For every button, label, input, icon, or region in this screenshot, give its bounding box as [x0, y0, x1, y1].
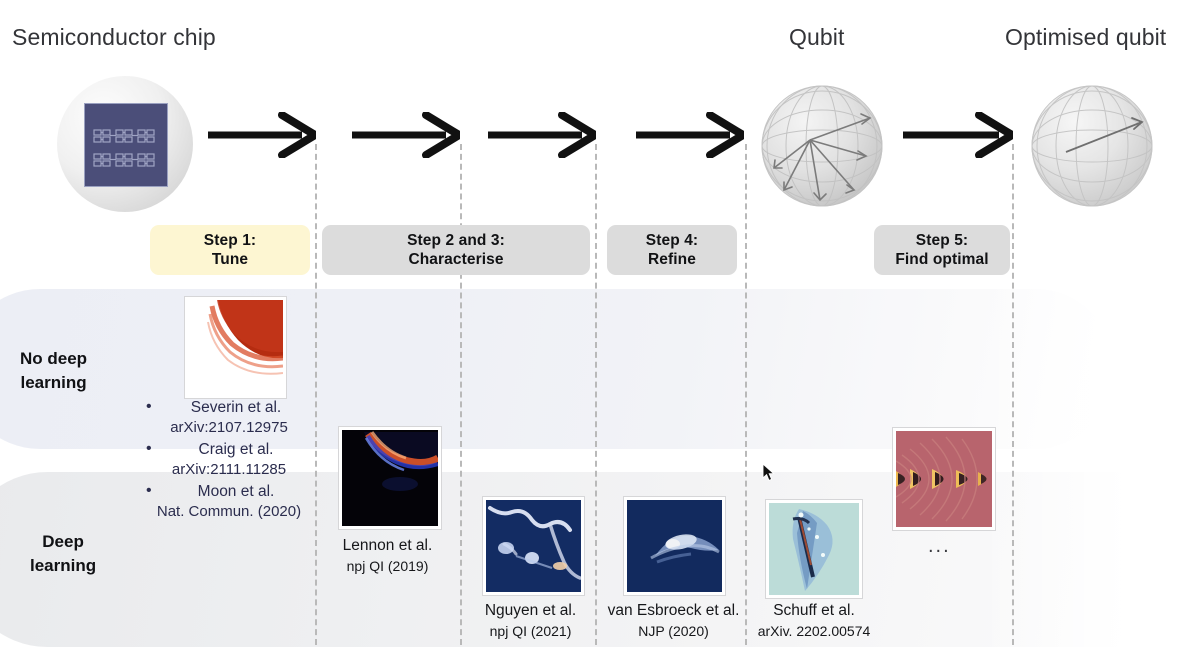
- workflow-diagram: Semiconductor chip Qubit Optimised qubit: [0, 0, 1200, 645]
- semiconductor-chip-image: [57, 76, 193, 212]
- citation-severin-reference: arXiv:2107.12975: [140, 418, 318, 438]
- step-2-3-pill[interactable]: Step 2 and 3:Characterise: [322, 225, 590, 275]
- caption-van-esbroeck: van Esbroeck et al. NJP (2020): [596, 600, 751, 642]
- optimised-qubit-bloch-sphere: [1018, 72, 1166, 220]
- thumb-lennon: [339, 427, 441, 529]
- citation-moon-title: Moon et al.: [140, 482, 318, 502]
- thumb-optimal: [893, 428, 995, 530]
- citation-craig-reference: arXiv:2111.11285: [140, 460, 318, 480]
- arrow-1-icon: [208, 112, 316, 158]
- caption-line1: Lennon et al.: [330, 535, 445, 556]
- thumb-image-rose-caustic: [896, 431, 992, 527]
- label-qubit: Qubit: [789, 24, 844, 51]
- citation-moon-reference: Nat. Commun. (2020): [140, 502, 318, 522]
- thumb-image-teal-wedge: [769, 503, 859, 595]
- row-label-deep-learning: Deep learning: [30, 530, 96, 578]
- row-label-line1: No deep: [20, 347, 87, 371]
- step-5-line2: Find optimal: [895, 250, 988, 269]
- caption-line1: van Esbroeck et al.: [596, 600, 751, 621]
- caption-line2: arXiv. 2202.00574: [744, 621, 884, 642]
- step-1-pill[interactable]: Step 1:Tune: [150, 225, 310, 275]
- mouse-cursor: [762, 463, 775, 487]
- caption-line1: Schuff et al.: [744, 600, 884, 621]
- column-divider-2: [460, 144, 462, 645]
- caption-line2: npj QI (2019): [330, 556, 445, 577]
- thumb-image-white-red-stability: [188, 300, 283, 395]
- step-1-line1: Step 1:: [204, 231, 256, 250]
- thumb-image-dark-plasma: [342, 430, 438, 526]
- caption-line2: npj QI (2021): [468, 621, 593, 642]
- citation-moon: Moon et al.Nat. Commun. (2020): [140, 482, 318, 522]
- step-4-line1: Step 4:: [646, 231, 698, 250]
- caption-line1: Nguyen et al.: [468, 600, 593, 621]
- step-2-3-line1: Step 2 and 3:: [407, 231, 505, 250]
- caption-lennon: Lennon et al. npj QI (2019): [330, 535, 445, 577]
- row-label-line1: Deep: [30, 530, 96, 554]
- caption-nguyen: Nguyen et al. npj QI (2021): [468, 600, 593, 642]
- arrow-5-icon: [903, 112, 1013, 158]
- thumb-van-esbroeck: [624, 497, 725, 595]
- thumb-image-navy-blob: [627, 500, 722, 592]
- column-divider-3: [595, 144, 597, 645]
- thumb-image-navy-filament: [486, 500, 581, 592]
- arrow-2-icon: [352, 112, 460, 158]
- qubit-bloch-sphere: [748, 72, 896, 220]
- more-results-ellipsis: ...: [928, 535, 951, 558]
- citation-severin-title: Severin et al.: [140, 398, 318, 418]
- citation-craig-title: Craig et al.: [140, 440, 318, 460]
- label-semiconductor-chip: Semiconductor chip: [12, 24, 216, 51]
- arrow-3-icon: [488, 112, 596, 158]
- step-4-line2: Refine: [648, 250, 696, 269]
- caption-line2: NJP (2020): [596, 621, 751, 642]
- citation-craig: Craig et al.arXiv:2111.11285: [140, 440, 318, 480]
- step-2-3-line2: Characterise: [408, 250, 503, 269]
- step-1-line2: Tune: [212, 250, 248, 269]
- thumb-severin: [185, 297, 286, 398]
- column-divider-5: [1012, 144, 1014, 645]
- chip-die: [84, 103, 168, 187]
- label-optimised-qubit: Optimised qubit: [1005, 24, 1166, 51]
- row-label-line2: learning: [20, 371, 87, 395]
- citation-severin: Severin et al.arXiv:2107.12975: [140, 398, 318, 438]
- row-label-line2: learning: [30, 554, 96, 578]
- thumb-nguyen: [483, 497, 584, 595]
- caption-schuff: Schuff et al. arXiv. 2202.00574: [744, 600, 884, 642]
- column-divider-4: [745, 144, 747, 645]
- step-4-pill[interactable]: Step 4:Refine: [607, 225, 737, 275]
- citation-list: Severin et al.arXiv:2107.12975Craig et a…: [140, 398, 318, 524]
- row-label-no-deep-learning: No deep learning: [20, 347, 87, 395]
- column-divider-1: [315, 144, 317, 645]
- arrow-4-icon: [636, 112, 744, 158]
- step-5-pill[interactable]: Step 5:Find optimal: [874, 225, 1010, 275]
- step-5-line1: Step 5:: [916, 231, 968, 250]
- thumb-schuff: [766, 500, 862, 598]
